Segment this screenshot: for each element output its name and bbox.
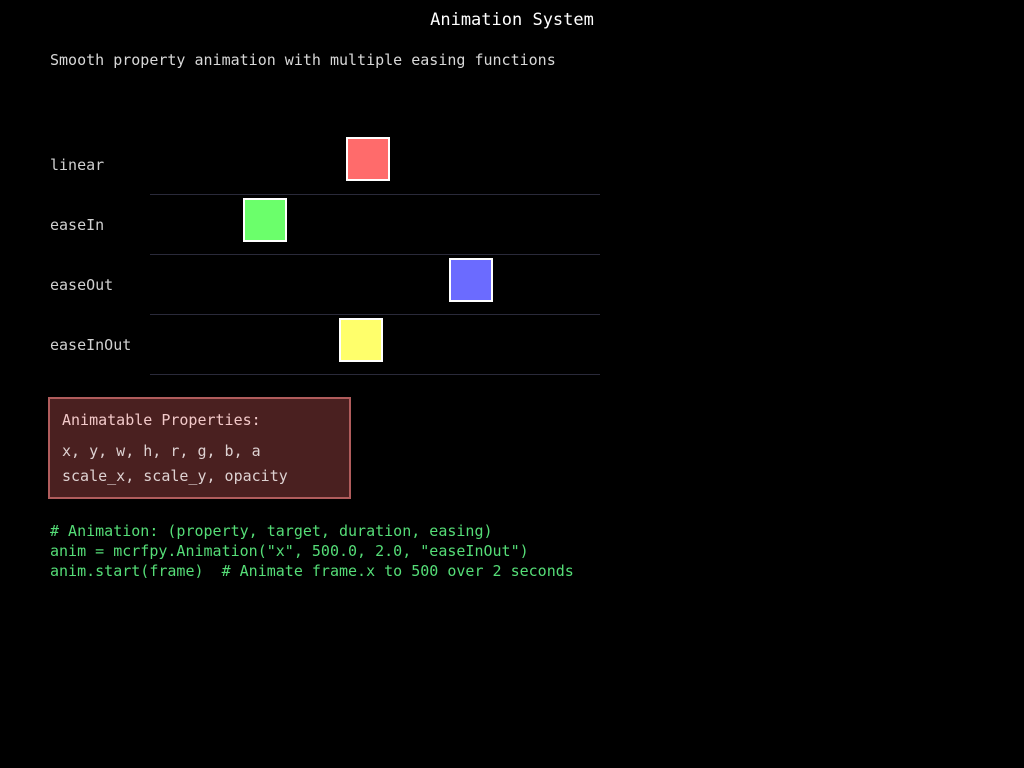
- code-line-create: anim = mcrfpy.Animation("x", 500.0, 2.0,…: [50, 541, 810, 561]
- panel-properties-line-1: x, y, w, h, r, g, b, a: [62, 441, 261, 461]
- easing-track-easein: easeIn: [0, 195, 1024, 255]
- easing-track-easeout: easeOut: [0, 255, 1024, 315]
- track-label-linear: linear: [50, 155, 104, 175]
- easing-track-linear: linear: [0, 135, 1024, 195]
- animatable-properties-panel: Animatable Properties: x, y, w, h, r, g,…: [48, 397, 351, 499]
- panel-properties-line-2: scale_x, scale_y, opacity: [62, 466, 288, 486]
- animation-demo-canvas: Animation System Smooth property animati…: [0, 0, 1024, 768]
- code-example-block: # Animation: (property, target, duration…: [50, 521, 810, 581]
- track-label-easein: easeIn: [50, 215, 104, 235]
- track-rail-easeinout: [150, 374, 600, 375]
- animated-box-easeinout[interactable]: [339, 318, 383, 362]
- animated-box-linear[interactable]: [346, 137, 390, 181]
- track-label-easeout: easeOut: [50, 275, 113, 295]
- code-line-start: anim.start(frame) # Animate frame.x to 5…: [50, 561, 810, 581]
- code-line-comment: # Animation: (property, target, duration…: [50, 521, 810, 541]
- animated-box-easeout[interactable]: [449, 258, 493, 302]
- panel-title: Animatable Properties:: [62, 410, 261, 430]
- track-label-easeinout: easeInOut: [50, 335, 131, 355]
- animated-box-easein[interactable]: [243, 198, 287, 242]
- easing-track-list: linear easeIn easeOut easeInOut: [0, 0, 1024, 400]
- easing-track-easeinout: easeInOut: [0, 315, 1024, 375]
